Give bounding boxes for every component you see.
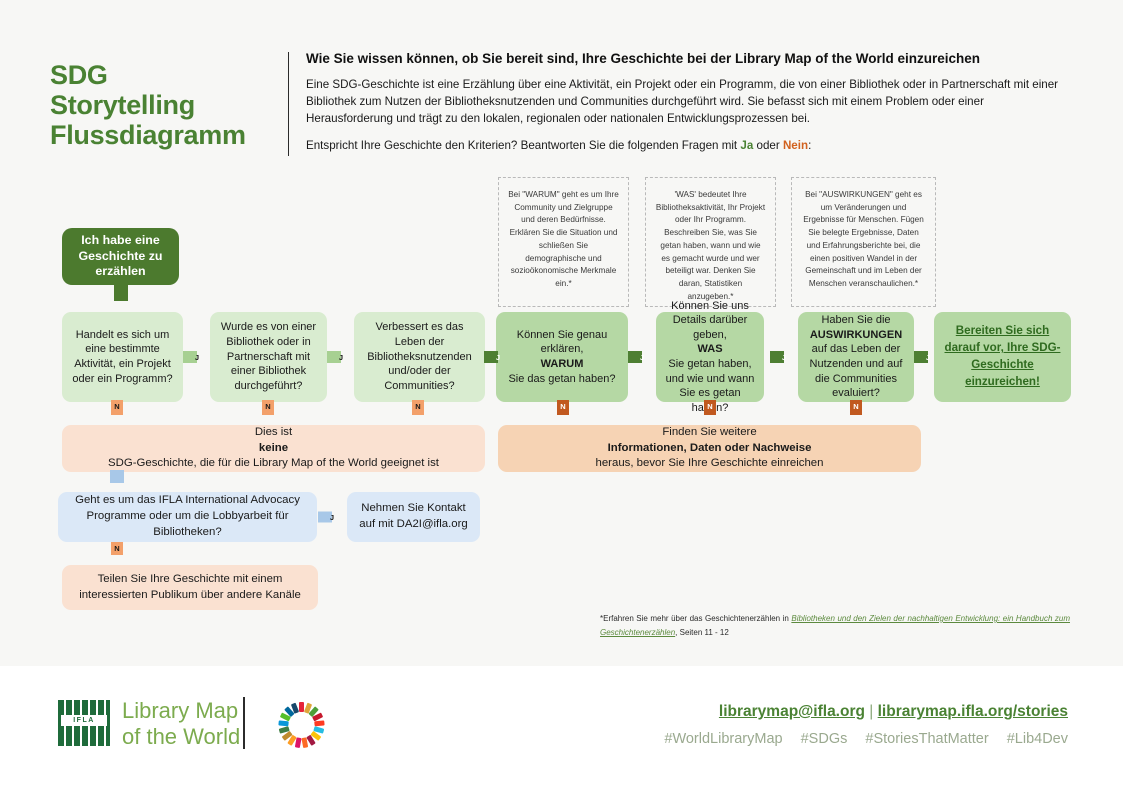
header-lead-paragraph: Eine SDG-Geschichte ist eine Erzählung ü… bbox=[306, 77, 1068, 127]
q4-post: Sie das getan haben? bbox=[504, 372, 620, 387]
q6-post: auf das Leben der Nutzenden und auf die … bbox=[806, 342, 906, 401]
node-start: Ich habe eine Geschichte zu erzählen bbox=[62, 228, 179, 285]
node-question-1-label: Handelt es sich um eine bestimmte Aktivi… bbox=[70, 328, 175, 387]
arrow-q5-to-q6-yes: J bbox=[770, 345, 798, 369]
sdg-wheel-segment bbox=[278, 720, 288, 726]
arrow-q3-to-q4-yes: J bbox=[484, 345, 512, 369]
node-question-2-label: Wurde es von einer Bibliothek oder in Pa… bbox=[218, 320, 319, 393]
arrow-q5-no: N bbox=[695, 400, 725, 426]
hashtag-1: #SDGs bbox=[801, 731, 848, 747]
title-line-3: Flussdiagramm bbox=[50, 120, 280, 150]
q4-pre: Können Sie genau erklären, bbox=[504, 328, 620, 357]
footnote: *Erfahren Sie mehr über das Geschichtene… bbox=[600, 612, 1070, 639]
criteria-suffix: : bbox=[808, 139, 811, 152]
q6-keyword: AUSWIRKUNGEN bbox=[810, 329, 902, 341]
arrow-q4-to-q5-yes: J bbox=[628, 345, 656, 369]
node-not-sdg-story: Dies ist keine SDG-Geschichte, die für d… bbox=[62, 425, 485, 472]
footer-link-separator: | bbox=[869, 703, 873, 720]
node-contact-da2i: Nehmen Sie Kontakt auf mit DA2I@ifla.org bbox=[347, 492, 480, 542]
footer-divider bbox=[243, 697, 245, 749]
node-share-other-channels-label: Teilen Sie Ihre Geschichte mit einem int… bbox=[70, 572, 310, 604]
node-share-other-channels: Teilen Sie Ihre Geschichte mit einem int… bbox=[62, 565, 318, 610]
node-question-5: Können Sie uns Details darüber geben, WA… bbox=[656, 312, 764, 402]
node-find-more-info: Finden Sie weitere Informationen, Daten … bbox=[498, 425, 921, 472]
node-question-4: Können Sie genau erklären, WARUM Sie das… bbox=[496, 312, 628, 402]
sdg-wheel-segment bbox=[301, 737, 308, 748]
find-more-post: heraus, bevor Sie Ihre Geschichte einrei… bbox=[506, 456, 913, 472]
header-criteria-line: Entspricht Ihre Geschichte den Kriterien… bbox=[306, 139, 1068, 152]
hashtag-0: #WorldLibraryMap bbox=[664, 731, 782, 747]
hashtag-3: #Lib4Dev bbox=[1007, 731, 1068, 747]
footnote-prefix: *Erfahren Sie mehr über das Geschichtene… bbox=[600, 614, 791, 623]
arrow-advocacy-no: N bbox=[102, 542, 132, 566]
ifla-logo-wordmark: IFLA bbox=[61, 715, 107, 726]
node-find-more-info-label: Finden Sie weitere Informationen, Daten … bbox=[506, 425, 913, 473]
note-impact: Bei "AUSWIRKUNGEN" geht es um Veränderun… bbox=[791, 177, 936, 307]
footnote-suffix: , Seiten 11 - 12 bbox=[675, 628, 729, 637]
node-contact-da2i-label: Nehmen Sie Kontakt auf mit DA2I@ifla.org bbox=[355, 501, 472, 533]
node-not-sdg-story-label: Dies ist keine SDG-Geschichte, die für d… bbox=[70, 425, 477, 473]
node-question-6-label: Haben Sie die AUSWIRKUNGEN auf das Leben… bbox=[806, 313, 906, 401]
arrow-q4-no: N bbox=[548, 400, 578, 426]
header-text-block: Wie Sie wissen können, ob Sie bereit sin… bbox=[306, 50, 1068, 152]
node-question-6: Haben Sie die AUSWIRKUNGEN auf das Leben… bbox=[798, 312, 914, 402]
node-outcome-submit-label: Bereiten Sie sich darauf vor, Ihre SDG-G… bbox=[942, 323, 1063, 390]
node-advocacy-question-label: Geht es um das IFLA International Advoca… bbox=[66, 493, 309, 541]
node-outcome-submit[interactable]: Bereiten Sie sich darauf vor, Ihre SDG-G… bbox=[934, 312, 1071, 402]
find-more-keyword: Informationen, Daten oder Nachweise bbox=[608, 442, 812, 454]
arrow-q1-no: N bbox=[102, 400, 132, 426]
node-question-4-label: Können Sie genau erklären, WARUM Sie das… bbox=[504, 328, 620, 387]
note-what: 'WAS' bedeutet Ihre Bibliotheksaktivität… bbox=[645, 177, 776, 307]
node-question-1: Handelt es sich um eine bestimmte Aktivi… bbox=[62, 312, 183, 402]
arrow-q2-no: N bbox=[253, 400, 283, 426]
node-question-3-label: Verbessert es das Leben der Bibliotheksn… bbox=[362, 320, 477, 393]
node-advocacy-question: Geht es um das IFLA International Advoca… bbox=[58, 492, 317, 542]
library-map-wordmark-line1: Library Map bbox=[122, 698, 240, 724]
ifla-logo-icon: IFLA bbox=[58, 700, 110, 746]
arrow-start-to-q1 bbox=[102, 285, 140, 313]
no-word: Nein bbox=[783, 139, 808, 152]
title-line-1: SDG bbox=[50, 60, 280, 90]
q4-keyword: WARUM bbox=[541, 358, 584, 370]
not-sdg-keyword: keine bbox=[259, 442, 288, 454]
note-why: Bei "WARUM" geht es um Ihre Community un… bbox=[498, 177, 629, 307]
footer-hashtags: #WorldLibraryMap #SDGs #StoriesThatMatte… bbox=[650, 731, 1068, 747]
node-question-3: Verbessert es das Leben der Bibliotheksn… bbox=[354, 312, 485, 402]
hashtag-2: #StoriesThatMatter bbox=[865, 731, 988, 747]
arrow-q3-no: N bbox=[403, 400, 433, 426]
footer-website-link[interactable]: librarymap.ifla.org/stories bbox=[878, 703, 1068, 720]
yes-word: Ja bbox=[740, 139, 753, 152]
node-start-label: Ich habe eine Geschichte zu erzählen bbox=[70, 233, 171, 281]
library-map-wordmark-line2: of the World bbox=[122, 724, 240, 750]
q6-pre: Haben Sie die bbox=[806, 313, 906, 328]
q5-pre: Können Sie uns Details darüber geben, bbox=[664, 299, 756, 343]
arrow-q1-to-q2-yes: J bbox=[183, 345, 211, 369]
arrow-q6-to-submit-yes: J bbox=[914, 345, 942, 369]
node-question-2: Wurde es von einer Bibliothek oder in Pa… bbox=[210, 312, 327, 402]
header-divider bbox=[288, 52, 289, 156]
node-question-5-label: Können Sie uns Details darüber geben, WA… bbox=[664, 299, 756, 416]
arrow-q6-no: N bbox=[841, 400, 871, 426]
sdg-wheel-icon bbox=[278, 702, 324, 748]
sdg-wheel-segment bbox=[299, 702, 304, 712]
find-more-pre: Finden Sie weitere bbox=[506, 425, 913, 441]
not-sdg-pre: Dies ist bbox=[70, 425, 477, 441]
page-title: SDG Storytelling Flussdiagramm bbox=[50, 60, 280, 151]
arrow-advocacy-to-contact-yes: J bbox=[318, 506, 346, 528]
footer-email-link[interactable]: librarymap@ifla.org bbox=[719, 703, 865, 720]
criteria-mid: oder bbox=[753, 139, 783, 152]
arrow-not-sdg-to-advocacy bbox=[102, 470, 132, 494]
title-line-2: Storytelling bbox=[50, 90, 280, 120]
header-heading: Wie Sie wissen können, ob Sie bereit sin… bbox=[306, 50, 1068, 68]
q5-keyword: WAS bbox=[697, 343, 722, 355]
sdg-wheel-center bbox=[291, 715, 311, 735]
library-map-wordmark: Library Map of the World bbox=[122, 698, 240, 750]
criteria-prefix: Entspricht Ihre Geschichte den Kriterien… bbox=[306, 139, 740, 152]
footer-links: librarymap@ifla.org | librarymap.ifla.or… bbox=[719, 703, 1068, 721]
arrow-q2-to-q3-yes: J bbox=[327, 345, 355, 369]
